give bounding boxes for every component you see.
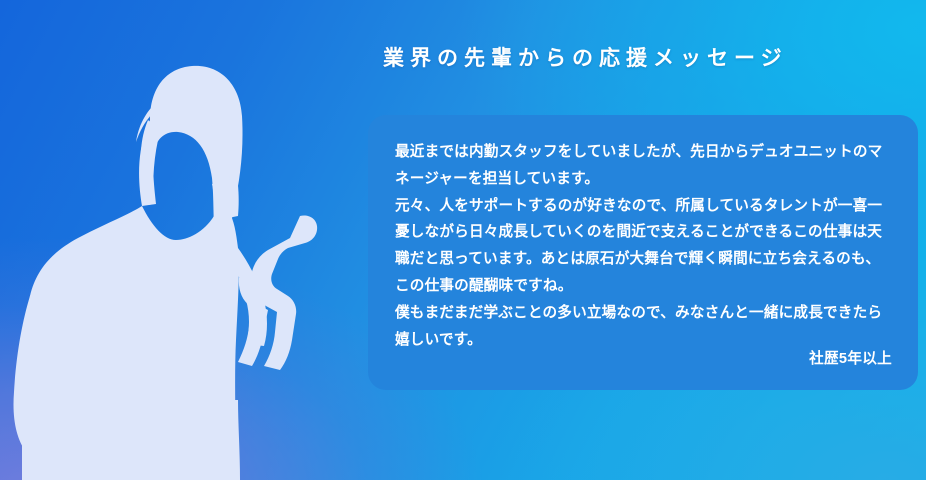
message-paragraph: 元々、人をサポートするのが好きなので、所属しているタレントが一喜一憂しながら日々…: [395, 193, 890, 300]
message-body: 最近までは内勤スタッフをしていましたが、先日からデュオユニットのマネージャーを担…: [395, 139, 890, 353]
message-paragraph: 僕もまだまだ学ぶことの多い立場なので、みなさんと一緒に成長できたら嬉しいです。: [395, 300, 890, 354]
promo-banner: 業界の先輩からの応援メッセージ 最近までは内勤スタッフをしていましたが、先日から…: [0, 0, 926, 480]
message-card: 最近までは内勤スタッフをしていましたが、先日からデュオユニットのマネージャーを担…: [368, 115, 918, 390]
message-paragraph: 最近までは内勤スタッフをしていましたが、先日からデュオユニットのマネージャーを担…: [395, 139, 890, 193]
message-signature: 社歴5年以上: [809, 347, 892, 368]
page-title: 業界の先輩からの応援メッセージ: [383, 42, 788, 72]
